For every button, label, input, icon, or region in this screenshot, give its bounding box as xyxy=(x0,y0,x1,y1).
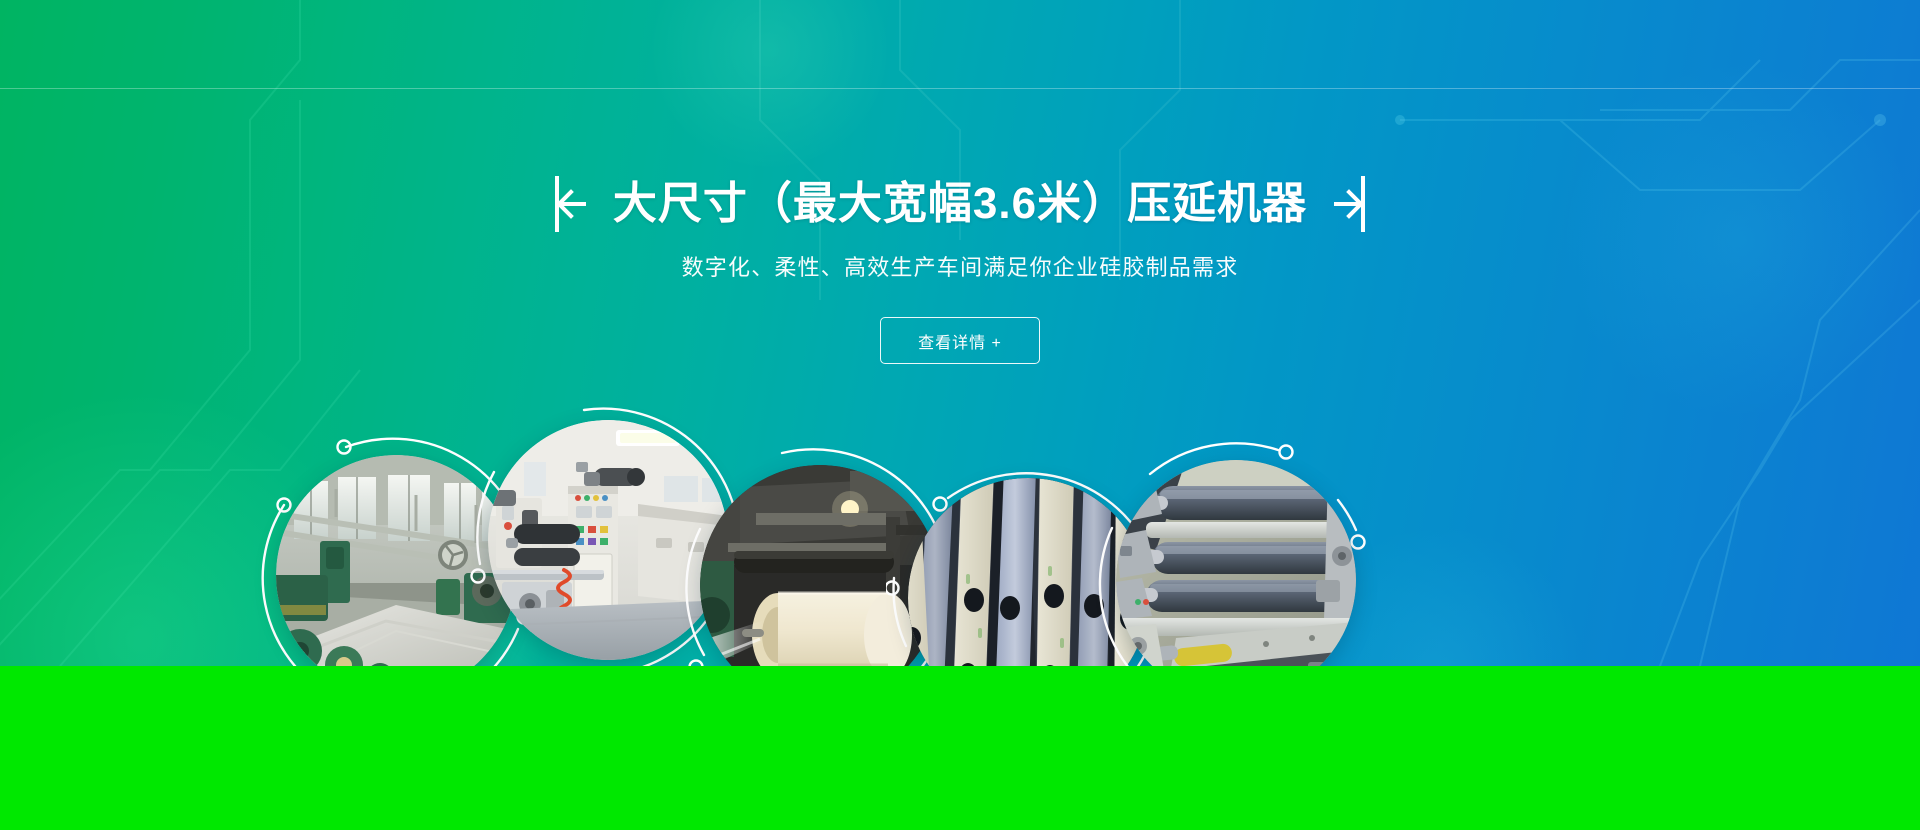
view-details-button[interactable]: 查看详情 + xyxy=(880,317,1040,364)
bottom-green-panel xyxy=(0,666,1920,830)
roller-assembly-closeup-illustration xyxy=(1116,460,1356,666)
page-title: 大尺寸（最大宽幅3.6米）压延机器 xyxy=(613,182,1307,226)
coating-oven-machine-illustration xyxy=(488,420,728,660)
dimension-arrow-left-icon xyxy=(553,176,587,232)
photo-circle-5[interactable] xyxy=(1116,460,1356,666)
photo-image-4 xyxy=(908,478,1148,666)
photo-circle-3[interactable] xyxy=(700,465,940,666)
banner-screenshot: 大尺寸（最大宽幅3.6米）压延机器 数字化、柔性、高效生产车间满足你企业硅胶制品… xyxy=(0,0,1920,830)
hero-banner: 大尺寸（最大宽幅3.6米）压延机器 数字化、柔性、高效生产车间满足你企业硅胶制品… xyxy=(0,0,1920,666)
photo-circle-4[interactable] xyxy=(908,478,1148,666)
photo-circle-1[interactable] xyxy=(276,455,516,666)
title-row: 大尺寸（最大宽幅3.6米）压延机器 xyxy=(553,173,1367,235)
photo-image-2 xyxy=(488,420,728,660)
photo-image-5 xyxy=(1116,460,1356,666)
silicone-strip-products-illustration xyxy=(908,478,1148,666)
photo-image-3 xyxy=(700,465,940,666)
dimension-arrow-right-icon xyxy=(1333,176,1367,232)
calender-line-workshop-illustration xyxy=(276,455,516,666)
fabric-roll-winding-illustration xyxy=(700,465,940,666)
photo-circle-strip xyxy=(0,430,1920,666)
headline-block: 大尺寸（最大宽幅3.6米）压延机器 数字化、柔性、高效生产车间满足你企业硅胶制品… xyxy=(0,0,1920,420)
photo-image-1 xyxy=(276,455,516,666)
page-subtitle: 数字化、柔性、高效生产车间满足你企业硅胶制品需求 xyxy=(682,257,1239,279)
photo-circle-2[interactable] xyxy=(488,420,728,660)
